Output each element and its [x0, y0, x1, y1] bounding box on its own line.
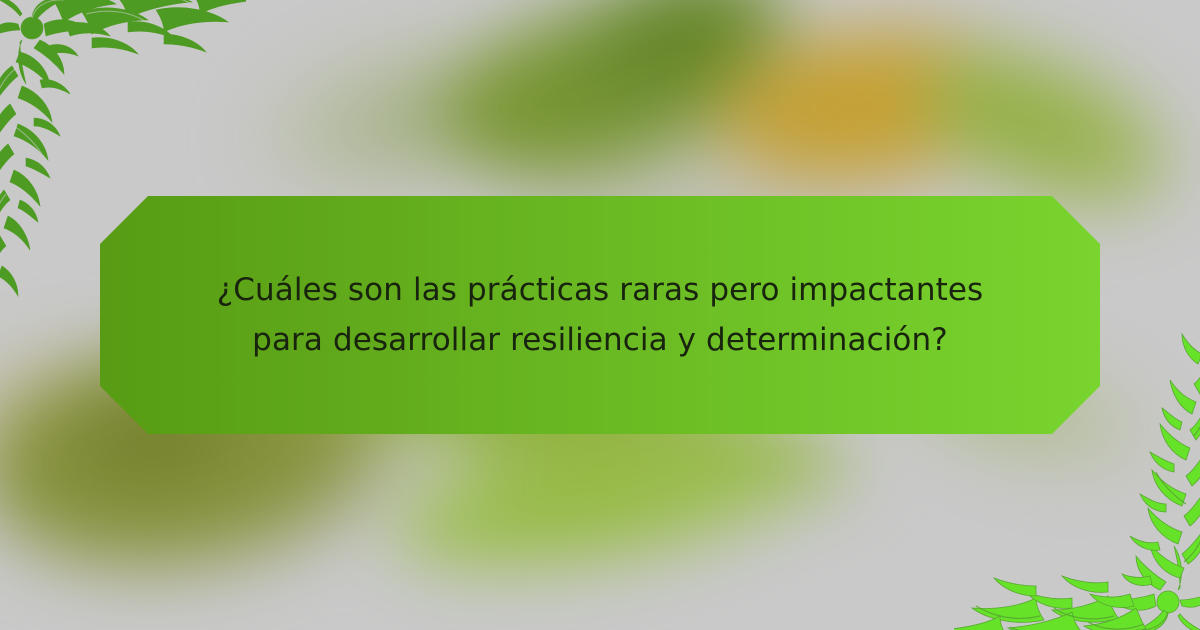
- question-text: ¿Cuáles son las prácticas raras pero imp…: [205, 265, 995, 365]
- question-banner: ¿Cuáles son las prácticas raras pero imp…: [100, 196, 1100, 434]
- poster-canvas: ¿Cuáles son las prácticas raras pero imp…: [0, 0, 1200, 630]
